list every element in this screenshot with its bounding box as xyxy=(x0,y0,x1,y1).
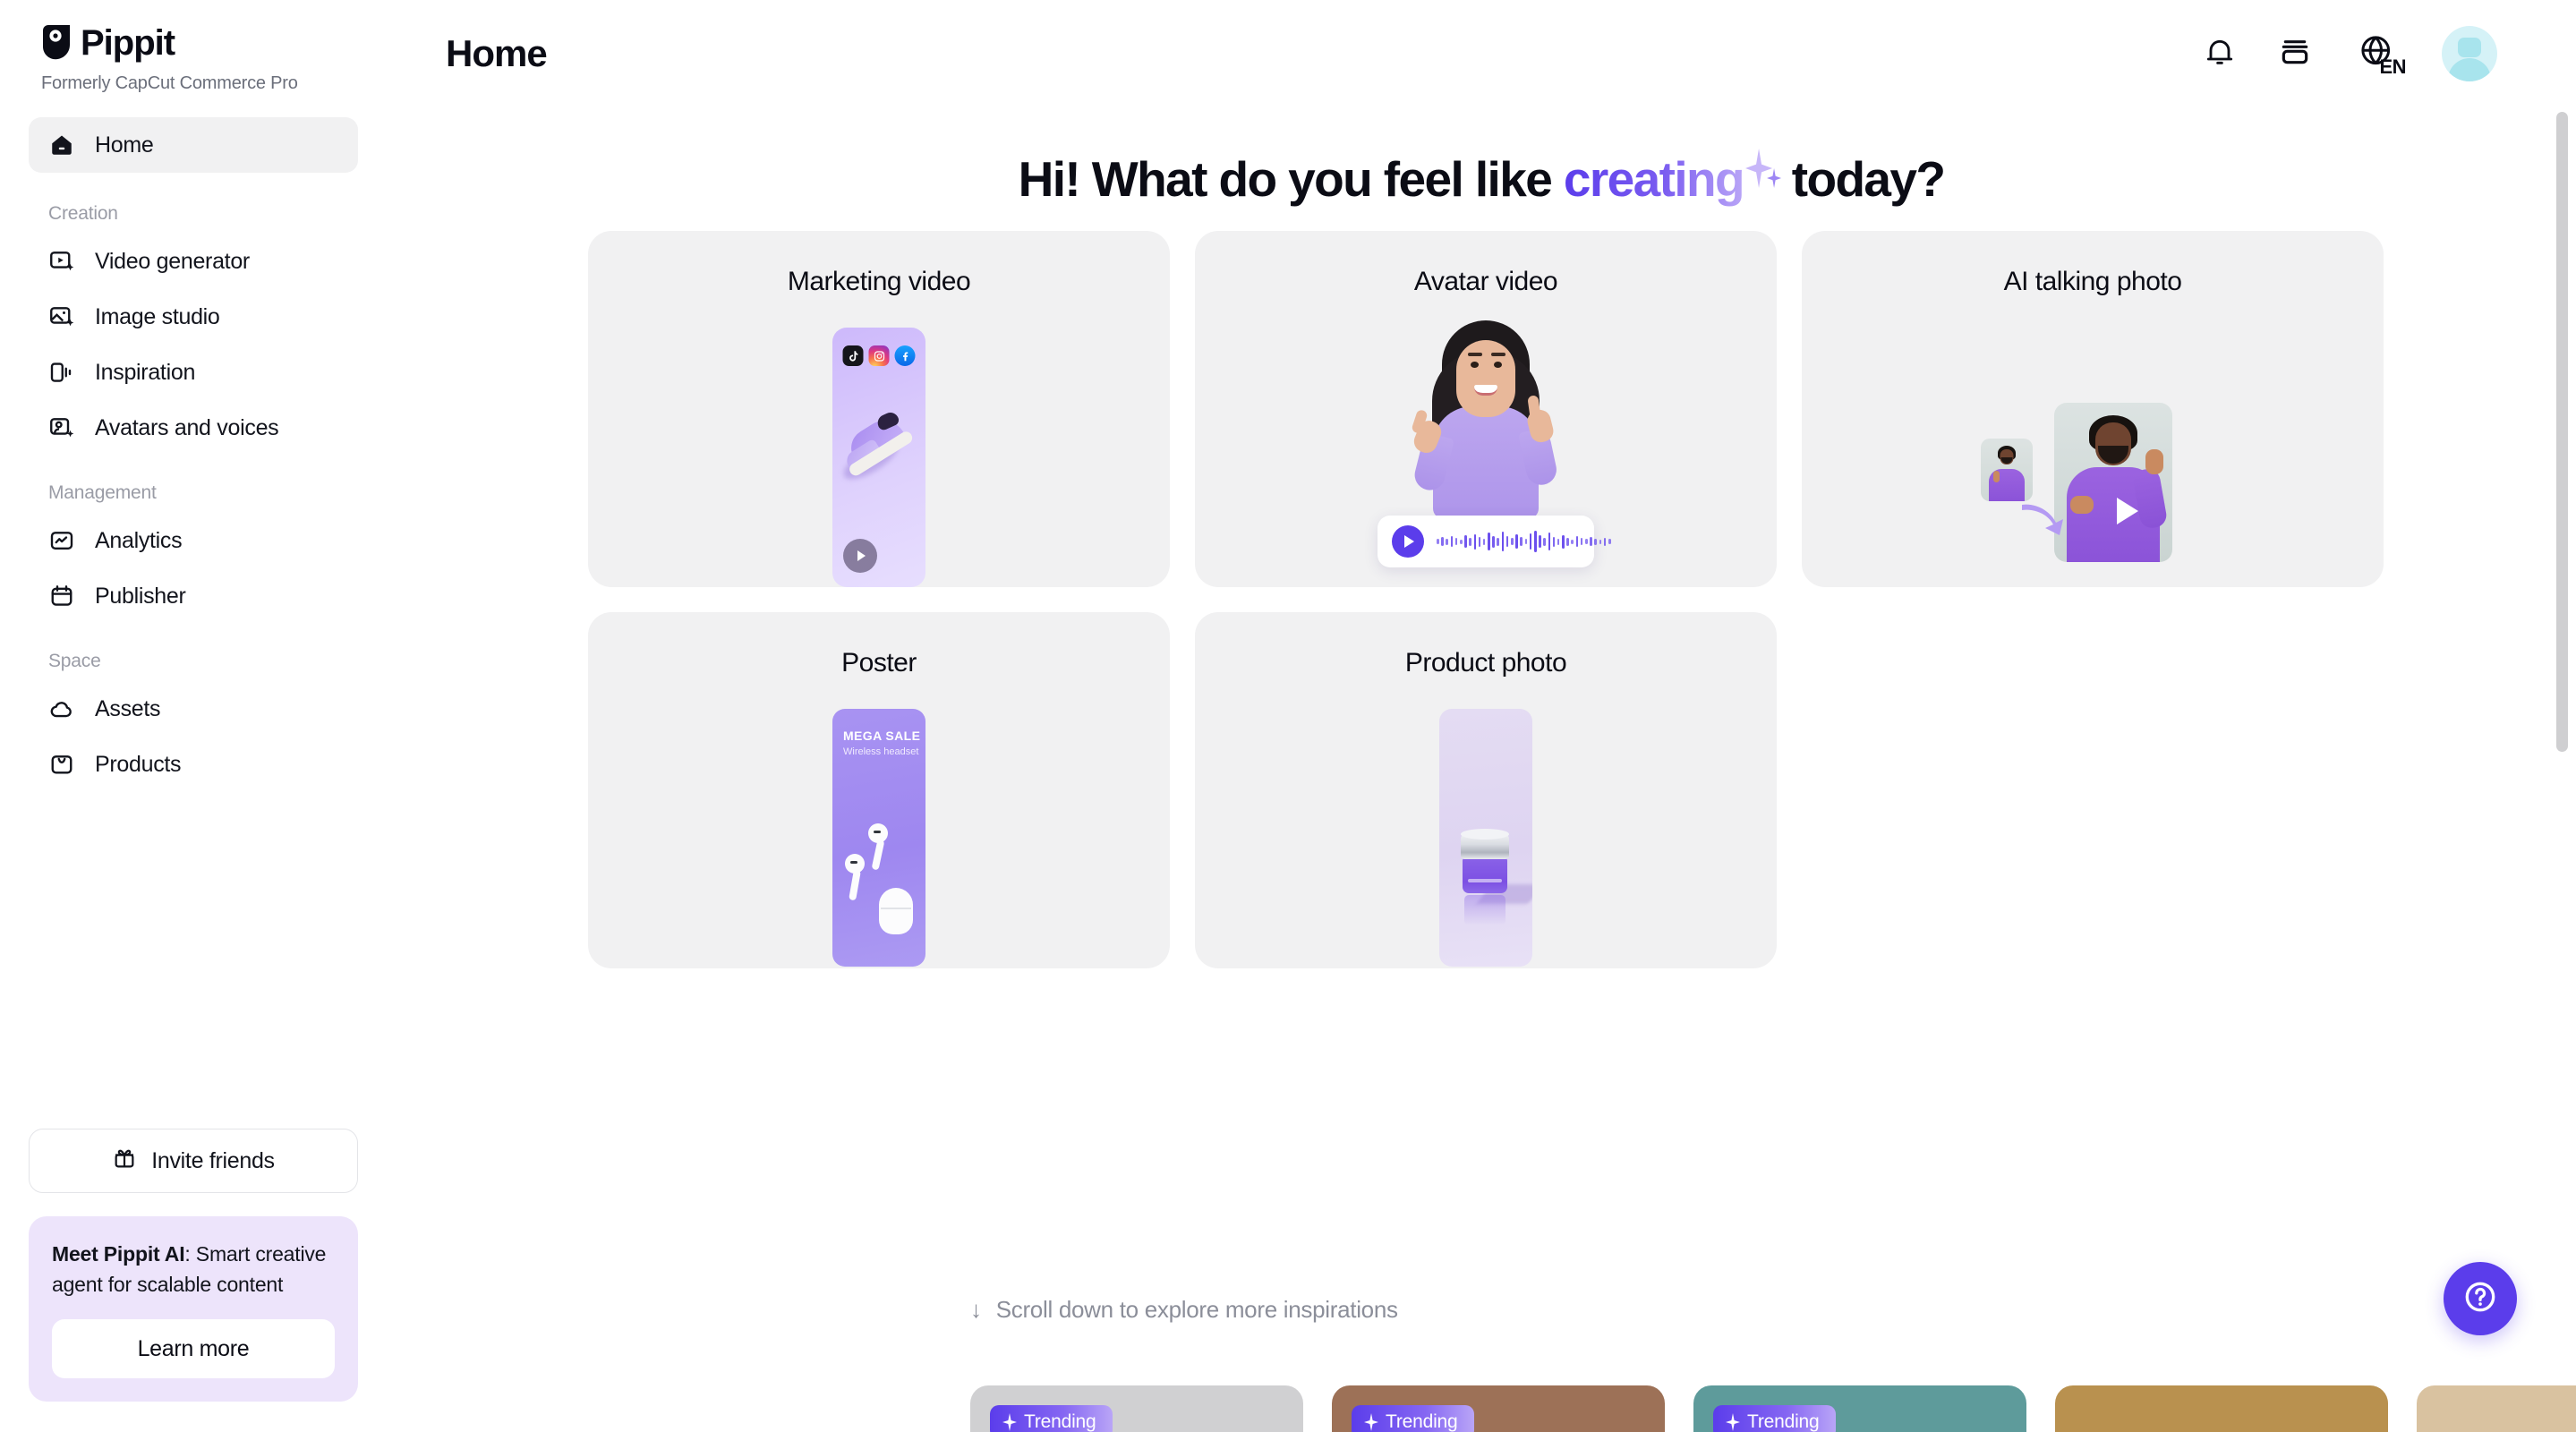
transform-arrow-icon xyxy=(2018,499,2068,539)
sidebar-footer: Invite friends Meet Pippit AI: Smart cre… xyxy=(29,1129,358,1402)
question-mark-icon xyxy=(2461,1278,2499,1320)
page-headline: Hi! What do you feel like creating today… xyxy=(387,150,2576,208)
notifications-button[interactable] xyxy=(2202,34,2238,74)
home-icon xyxy=(48,132,75,158)
card-ai-talking-photo[interactable]: AI talking photo xyxy=(1802,231,2384,587)
sidebar-item-publisher[interactable]: Publisher xyxy=(29,568,358,624)
vertical-scrollbar[interactable] xyxy=(2556,112,2568,752)
sidebar-group-management: Management xyxy=(29,482,358,504)
publisher-calendar-icon xyxy=(48,583,75,609)
trending-badge: Trending xyxy=(1352,1405,1474,1432)
invite-friends-button[interactable]: Invite friends xyxy=(29,1129,358,1193)
play-button-icon xyxy=(1392,525,1424,558)
play-button-icon xyxy=(843,539,877,573)
sidebar-item-label: Analytics xyxy=(95,528,182,554)
sidebar-item-label: Video generator xyxy=(95,249,250,275)
scroll-hint: ↓ Scroll down to explore more inspiratio… xyxy=(970,1296,1398,1324)
help-button[interactable] xyxy=(2444,1262,2517,1335)
archive-box-icon xyxy=(2277,34,2313,74)
cloud-assets-icon xyxy=(48,695,75,722)
promo-text: Meet Pippit AI: Smart creative agent for… xyxy=(52,1240,335,1300)
poster-headline: MEGA SALE xyxy=(843,729,920,743)
archive-button[interactable] xyxy=(2277,34,2313,74)
avatar[interactable] xyxy=(2442,26,2497,81)
sparkle-icon xyxy=(1002,1413,1017,1431)
analytics-icon xyxy=(48,527,75,554)
sidebar-item-label: Publisher xyxy=(95,584,186,609)
invite-friends-label: Invite friends xyxy=(151,1148,275,1174)
app-root: Pippit Formerly CapCut Commerce Pro Home… xyxy=(0,0,2576,1432)
card-title: Marketing video xyxy=(588,231,1170,297)
page-title: Home xyxy=(446,32,547,75)
sparkle-icon xyxy=(1744,195,1779,196)
play-button-icon xyxy=(2117,498,2138,524)
card-title: Poster xyxy=(588,612,1170,678)
sidebar-item-video-generator[interactable]: Video generator xyxy=(29,234,358,289)
video-generator-icon xyxy=(48,248,75,275)
brand-block: Pippit Formerly CapCut Commerce Pro xyxy=(0,0,387,94)
pippit-logo-icon xyxy=(41,25,72,61)
sidebar-item-label: Image studio xyxy=(95,304,220,330)
product-photo-art xyxy=(1439,709,1532,967)
sidebar-item-avatars-and-voices[interactable]: Avatars and voices xyxy=(29,400,358,456)
sparkle-icon xyxy=(1364,1413,1378,1431)
top-bar: Home xyxy=(387,0,2576,107)
scroll-hint-text: Scroll down to explore more inspirations xyxy=(996,1296,1398,1324)
sidebar-group-creation: Creation xyxy=(29,203,358,225)
trending-badge: Trending xyxy=(990,1405,1113,1432)
sidebar: Pippit Formerly CapCut Commerce Pro Home… xyxy=(0,0,387,1432)
promo-card: Meet Pippit AI: Smart creative agent for… xyxy=(29,1216,358,1402)
card-avatar-video[interactable]: Avatar video xyxy=(1195,231,1777,587)
headline-suffix: today? xyxy=(1779,151,1944,207)
top-actions: EN xyxy=(2202,26,2497,81)
sidebar-item-label: Home xyxy=(95,132,154,158)
instagram-icon xyxy=(869,345,890,366)
brand-subtitle: Formerly CapCut Commerce Pro xyxy=(41,73,387,94)
sidebar-item-home[interactable]: Home xyxy=(29,117,358,173)
sidebar-nav: Home Creation Video generator xyxy=(0,117,387,792)
sidebar-item-label: Inspiration xyxy=(95,360,195,386)
creation-cards-grid: Marketing video xyxy=(586,231,2376,968)
trending-card[interactable] xyxy=(2055,1385,2388,1432)
card-title: Avatar video xyxy=(1195,231,1777,297)
trending-card[interactable] xyxy=(2417,1385,2576,1432)
sidebar-group-space: Space xyxy=(29,651,358,672)
source-photo-thumbnail xyxy=(1981,439,2033,501)
user-avatar-icon xyxy=(2458,38,2481,57)
sparkle-icon xyxy=(1726,1413,1740,1431)
facebook-icon xyxy=(895,345,916,366)
learn-more-button[interactable]: Learn more xyxy=(52,1319,335,1378)
avatar-body xyxy=(2448,58,2491,81)
waveform-icon xyxy=(1437,528,1611,555)
generated-photo-preview xyxy=(2054,403,2172,562)
main-content: Home xyxy=(387,0,2576,1432)
avatars-voices-icon xyxy=(48,414,75,441)
promo-title-bold: Meet Pippit AI xyxy=(52,1242,184,1266)
bell-icon xyxy=(2202,34,2238,74)
card-title: Product photo xyxy=(1195,612,1777,678)
poster-art: MEGA SALE Wireless headset xyxy=(832,709,925,967)
headline-prefix: Hi! What do you feel like xyxy=(1019,151,1564,207)
trending-badge-label: Trending xyxy=(1747,1411,1820,1432)
sidebar-item-label: Avatars and voices xyxy=(95,415,278,441)
sidebar-item-inspiration[interactable]: Inspiration xyxy=(29,345,358,400)
card-marketing-video[interactable]: Marketing video xyxy=(588,231,1170,587)
sidebar-item-label: Assets xyxy=(95,696,160,722)
poster-subhead: Wireless headset xyxy=(843,746,918,757)
brand-name: Pippit xyxy=(81,25,175,61)
trending-badge-label: Trending xyxy=(1024,1411,1096,1432)
trending-badge: Trending xyxy=(1713,1405,1836,1432)
tiktok-icon xyxy=(843,345,864,366)
sidebar-item-label: Products xyxy=(95,752,181,778)
card-poster[interactable]: Poster MEGA SALE Wireless headset xyxy=(588,612,1170,968)
trending-card[interactable]: Trending xyxy=(970,1385,1303,1432)
sidebar-item-products[interactable]: Products xyxy=(29,737,358,792)
gift-icon xyxy=(112,1146,137,1177)
card-product-photo[interactable]: Product photo xyxy=(1195,612,1777,968)
trending-card[interactable]: Trending xyxy=(1332,1385,1665,1432)
products-bag-icon xyxy=(48,751,75,778)
language-label: EN xyxy=(2379,55,2406,79)
image-studio-icon xyxy=(48,303,75,330)
language-button[interactable]: EN xyxy=(2352,30,2402,77)
sidebar-item-assets[interactable]: Assets xyxy=(29,681,358,737)
arrow-down-icon: ↓ xyxy=(970,1296,982,1324)
sidebar-item-analytics[interactable]: Analytics xyxy=(29,513,358,568)
trending-card[interactable]: Trending xyxy=(1693,1385,2026,1432)
card-title: AI talking photo xyxy=(1802,231,2384,297)
sidebar-item-image-studio[interactable]: Image studio xyxy=(29,289,358,345)
trending-badge-label: Trending xyxy=(1386,1411,1458,1432)
headline-highlight: creating xyxy=(1564,151,1744,207)
audio-waveform-bar xyxy=(1378,516,1594,567)
inspiration-icon xyxy=(48,359,75,386)
trending-cards-row: TrendingTrendingTrending xyxy=(970,1385,2576,1432)
